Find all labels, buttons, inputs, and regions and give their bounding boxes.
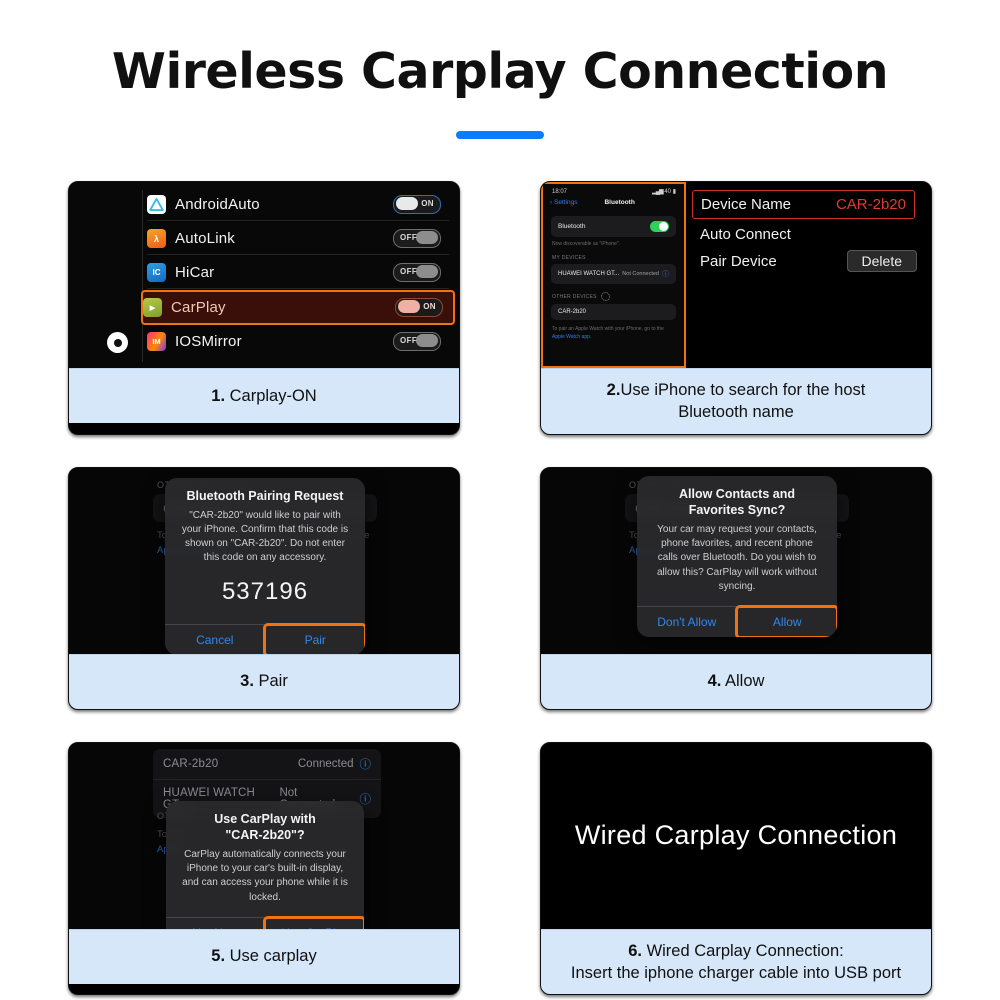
step-6-caption: 6. Wired Carplay Connection: Insert the …: [541, 929, 931, 995]
toggle-label: OFF: [400, 336, 417, 345]
allow-button[interactable]: Allow: [737, 607, 838, 637]
setting-label: Pair Device: [700, 253, 777, 270]
app-toggle-autolink[interactable]: OFF: [393, 229, 441, 248]
toggle-label: ON: [421, 199, 434, 208]
setting-row-auto-connect[interactable]: Auto Connect: [686, 221, 931, 248]
title-accent-bar: [456, 131, 544, 139]
step-number: 5.: [211, 947, 225, 965]
step-4-screenshot: OTHER DEVICES CAR-2b20 To pair an Apple …: [541, 468, 931, 654]
device-name-value: CAR-2b20: [836, 196, 906, 213]
phone-nav-bar: ‹ Settings Bluetooth: [543, 195, 684, 206]
step-number: 2.: [607, 381, 621, 399]
use-carplay-button[interactable]: Use CarPlay: [265, 918, 365, 929]
bluetooth-pairing-dialog: Bluetooth Pairing Request "CAR-2b20" wou…: [165, 478, 365, 654]
my-device-row[interactable]: HUAWEI WATCH GT... Not Connected ⓘ: [551, 264, 676, 284]
wired-carplay-screen: Wired Carplay Connection: [541, 743, 931, 929]
not-now-button[interactable]: Not Now: [166, 918, 265, 929]
step-card-1: AndroidAuto ON λ AutoLink OFF: [68, 181, 460, 435]
info-icon[interactable]: ⓘ: [360, 756, 372, 772]
app-toggle-hicar[interactable]: OFF: [393, 263, 441, 282]
step-text: Use iPhone to search for the host: [620, 381, 865, 399]
app-toggle-androidauto[interactable]: ON: [393, 195, 441, 214]
home-button-icon[interactable]: [107, 332, 128, 353]
apple-watch-app-link[interactable]: Apple Watch app.: [552, 334, 591, 340]
allow-contacts-dialog: Allow Contacts and Favorites Sync? Your …: [637, 476, 837, 637]
toggle-label: OFF: [400, 233, 417, 242]
discoverable-note: Now discoverable as "iPhone".: [552, 241, 675, 247]
dialog-title-line1: Use CarPlay with: [180, 811, 350, 827]
bluetooth-pairing-screen: 18:07 ▂▄▆ 40 ▮ ‹ Settings Bluetooth Blue…: [541, 182, 931, 368]
setting-row-device-name[interactable]: Device Name CAR-2b20: [692, 190, 915, 219]
step-number: 3.: [240, 672, 254, 690]
setting-label: Device Name: [701, 196, 791, 213]
dialog-title: Bluetooth Pairing Request: [179, 488, 351, 504]
setting-row-pair-device[interactable]: Pair Device Delete: [686, 248, 931, 275]
step-5-caption: 5. Use carplay: [69, 929, 459, 984]
step-number: 4.: [708, 672, 722, 690]
wired-carplay-title: Wired Carplay Connection: [575, 820, 897, 851]
phone-footer-note: To pair an Apple Watch with your iPhone,…: [552, 326, 675, 341]
info-icon[interactable]: ⓘ: [662, 269, 669, 279]
device-status: Connected: [298, 758, 354, 770]
list-divider: [142, 190, 143, 362]
app-toggle-iosmirror[interactable]: OFF: [393, 332, 441, 351]
dialog-text: CarPlay automatically connects your iPho…: [180, 848, 350, 905]
toggle-label: OFF: [400, 267, 417, 276]
dialog-text: "CAR-2b20" would like to pair with your …: [179, 509, 351, 566]
step-card-5: CAR-2b20 Connected ⓘ HUAWEI WATCH GT... …: [68, 742, 460, 996]
status-indicators: ▂▄▆ 40 ▮: [652, 188, 676, 195]
app-name: HiCar: [175, 264, 214, 281]
step-6-screenshot: Wired Carplay Connection: [541, 743, 931, 929]
bluetooth-switch[interactable]: [650, 221, 669, 232]
carplay-icon: ▶: [143, 298, 162, 317]
step-number: 6.: [628, 942, 642, 960]
device-name: HUAWEI WATCH GT...: [558, 271, 619, 277]
app-row-iosmirror[interactable]: IM IOSMirror OFF: [147, 325, 451, 358]
bluetooth-toggle-row[interactable]: Bluetooth: [551, 216, 676, 237]
hicar-icon: IC: [147, 263, 166, 282]
step-text-line2: Bluetooth name: [678, 403, 794, 421]
app-row-androidauto[interactable]: AndroidAuto ON: [147, 188, 451, 221]
app-name: AndroidAuto: [175, 196, 260, 213]
step-3-caption: 3. Pair: [69, 654, 459, 709]
dialog-title-line2: "CAR-2b20"?: [180, 827, 350, 843]
dialog-text: Your car may request your contacts, phon…: [651, 523, 823, 594]
step-card-3: OTHER DEVICES CAR-2b20 To pair an Apple …: [68, 467, 460, 710]
iosmirror-icon: IM: [147, 332, 166, 351]
nav-title: Bluetooth: [604, 199, 634, 206]
step-5-screenshot: CAR-2b20 Connected ⓘ HUAWEI WATCH GT... …: [69, 743, 459, 929]
step-2-screenshot: 18:07 ▂▄▆ 40 ▮ ‹ Settings Bluetooth Blue…: [541, 182, 931, 368]
app-name: IOSMirror: [175, 333, 242, 350]
pair-button[interactable]: Pair: [265, 625, 366, 654]
step-text: Pair: [254, 672, 288, 690]
dont-allow-button[interactable]: Don't Allow: [637, 607, 737, 637]
app-row-hicar[interactable]: IC HiCar OFF: [147, 256, 451, 289]
delete-button[interactable]: Delete: [847, 250, 917, 272]
autolink-icon: λ: [147, 229, 166, 248]
step-2-caption: 2.Use iPhone to search for the host Blue…: [541, 368, 931, 434]
step-text: Wired Carplay Connection:: [642, 942, 844, 960]
device-name: CAR-2b20: [558, 309, 586, 315]
info-icon[interactable]: ⓘ: [360, 791, 372, 807]
status-time: 18:07: [552, 189, 567, 195]
loading-spinner-icon: [601, 292, 610, 301]
step-text: Carplay-ON: [225, 387, 317, 405]
step-1-caption: 1. Carplay-ON: [69, 368, 459, 423]
dialog-actions: Cancel Pair: [165, 624, 365, 654]
dialog-title-line1: Allow Contacts and: [651, 486, 823, 502]
steps-grid: AndroidAuto ON λ AutoLink OFF: [68, 181, 932, 995]
step-4-caption: 4. Allow: [541, 654, 931, 709]
setting-label: Auto Connect: [700, 226, 791, 243]
app-row-carplay[interactable]: ▶ CarPlay ON: [141, 290, 455, 325]
dialog-actions: Not Now Use CarPlay: [166, 917, 364, 929]
dialog-actions: Don't Allow Allow: [637, 606, 837, 637]
my-devices-header: MY DEVICES: [552, 255, 675, 261]
cancel-button[interactable]: Cancel: [165, 625, 265, 654]
toggle-label: ON: [423, 302, 436, 311]
other-devices-header: OTHER DEVICES: [552, 292, 675, 301]
dialog-title-line2: Favorites Sync?: [651, 502, 823, 518]
pairing-code: 537196: [179, 578, 351, 606]
device-name: CAR-2b20: [163, 758, 218, 770]
step-text: Allow: [721, 672, 764, 690]
back-button[interactable]: ‹ Settings: [550, 199, 577, 206]
page-title: Wireless Carplay Connection: [0, 46, 1000, 97]
other-device-row[interactable]: CAR-2b20: [551, 304, 676, 320]
bluetooth-label: Bluetooth: [558, 223, 585, 230]
androidauto-icon: [147, 195, 166, 214]
app-toggle-carplay[interactable]: ON: [395, 298, 443, 317]
device-status: Not Connected: [622, 271, 659, 277]
step-1-screenshot: AndroidAuto ON λ AutoLink OFF: [69, 182, 459, 368]
use-carplay-dialog: Use CarPlay with "CAR-2b20"? CarPlay aut…: [166, 801, 364, 929]
iphone-bluetooth-settings: 18:07 ▂▄▆ 40 ▮ ‹ Settings Bluetooth Blue…: [541, 182, 686, 368]
app-name: CarPlay: [171, 299, 226, 316]
step-card-6: Wired Carplay Connection 6. Wired Carpla…: [540, 742, 932, 996]
device-row-car[interactable]: CAR-2b20 Connected ⓘ: [153, 749, 381, 779]
app-list: AndroidAuto ON λ AutoLink OFF: [69, 182, 459, 368]
app-name: AutoLink: [175, 230, 235, 247]
step-text: Use carplay: [225, 947, 317, 965]
phone-status-bar: 18:07 ▂▄▆ 40 ▮: [543, 184, 684, 195]
step-3-screenshot: OTHER DEVICES CAR-2b20 To pair an Apple …: [69, 468, 459, 654]
app-row-autolink[interactable]: λ AutoLink OFF: [147, 222, 451, 255]
step-text-line2: Insert the iphone charger cable into USB…: [571, 964, 901, 982]
step-card-2: 18:07 ▂▄▆ 40 ▮ ‹ Settings Bluetooth Blue…: [540, 181, 932, 435]
step-number: 1.: [211, 387, 225, 405]
head-unit-settings: Device Name CAR-2b20 Auto Connect Pair D…: [686, 182, 931, 368]
step-card-4: OTHER DEVICES CAR-2b20 To pair an Apple …: [540, 467, 932, 710]
page-header: Wireless Carplay Connection: [0, 0, 1000, 139]
